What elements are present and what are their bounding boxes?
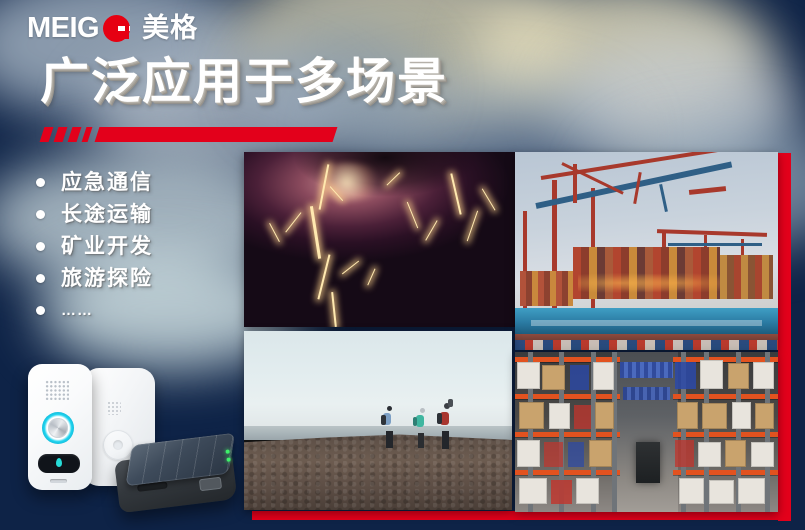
list-item[interactable]: 长途运输 bbox=[36, 198, 216, 230]
list-item[interactable]: 矿业开发 bbox=[36, 230, 216, 262]
sos-knob-icon bbox=[48, 418, 68, 438]
warehouse-door bbox=[636, 442, 660, 484]
logo-g-icon bbox=[103, 15, 130, 42]
frame-accent-right bbox=[778, 153, 791, 521]
list-item[interactable]: 应急通信 bbox=[36, 166, 216, 198]
product-image-group bbox=[8, 362, 238, 522]
frame-accent-bottom bbox=[252, 511, 791, 520]
list-item-label: 长途运输 bbox=[61, 204, 153, 225]
bullet-dot-icon bbox=[36, 274, 45, 283]
list-item-label: …… bbox=[61, 303, 93, 318]
satellite-communicator-front bbox=[28, 364, 92, 490]
bullet-dot-icon bbox=[36, 210, 45, 219]
list-item-label: 旅游探险 bbox=[61, 268, 153, 289]
photo-hikers-expedition bbox=[244, 331, 512, 510]
logo-wordmark: MEIG bbox=[27, 14, 99, 43]
bullet-dot-icon bbox=[36, 178, 45, 187]
page-title: 广泛应用于多场景 bbox=[40, 58, 448, 107]
bullet-dot-icon bbox=[36, 242, 45, 251]
scenario-list: 应急通信 长途运输 矿业开发 旅游探险 …… bbox=[36, 166, 216, 326]
photo-container-port bbox=[515, 152, 778, 350]
brand-logo: MEIG 美格 bbox=[27, 14, 198, 43]
logo-chinese-name: 美格 bbox=[142, 15, 198, 42]
list-item[interactable]: …… bbox=[36, 294, 216, 326]
shelf-rack-left bbox=[515, 352, 620, 512]
photo-lightning-storm bbox=[244, 152, 515, 327]
list-item[interactable]: 旅游探险 bbox=[36, 262, 216, 294]
device-screen bbox=[38, 454, 80, 473]
list-item-label: 应急通信 bbox=[61, 172, 153, 193]
photo-warehouse-logistics bbox=[515, 352, 778, 512]
title-accent-bar bbox=[40, 127, 335, 142]
solar-gps-tracker bbox=[112, 433, 241, 515]
shelf-rack-right bbox=[673, 352, 778, 512]
slide-canvas: MEIG 美格 广泛应用于多场景 应急通信 长途运输 矿业开发 旅游探险 … bbox=[0, 0, 805, 530]
usb-port-icon bbox=[50, 479, 67, 483]
speaker-grill-icon bbox=[45, 380, 69, 400]
list-item-label: 矿业开发 bbox=[61, 236, 153, 257]
bullet-dot-icon bbox=[36, 306, 45, 315]
